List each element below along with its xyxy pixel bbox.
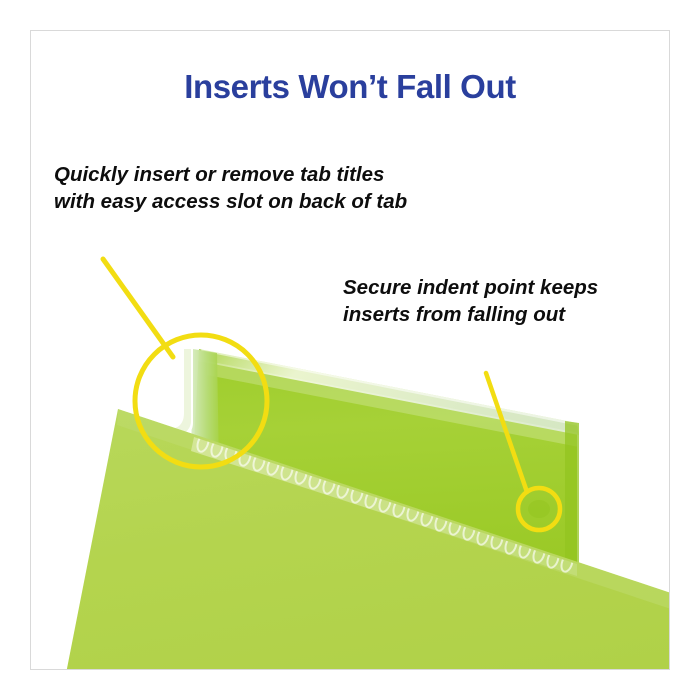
callout-indent-point-line2: inserts from falling out (343, 301, 598, 328)
leader-line-right (486, 373, 527, 492)
callout-indent-point: Secure indent point keeps inserts from f… (343, 274, 598, 328)
callout-indent-point-line1: Secure indent point keeps (343, 274, 598, 301)
leader-line-left (103, 259, 173, 357)
circle-highlight-left (135, 335, 267, 467)
page-title: Inserts Won’t Fall Out (0, 68, 700, 106)
product-feature-image: Inserts Won’t Fall Out Quickly insert or… (0, 0, 700, 700)
product-photo (31, 31, 669, 669)
callout-access-slot-line1: Quickly insert or remove tab titles (54, 161, 407, 188)
callout-access-slot-line2: with easy access slot on back of tab (54, 188, 407, 215)
callout-access-slot: Quickly insert or remove tab titles with… (54, 161, 407, 215)
photo-frame (30, 30, 670, 670)
highlight-annotations (31, 31, 670, 670)
circle-highlight-right (518, 488, 560, 530)
